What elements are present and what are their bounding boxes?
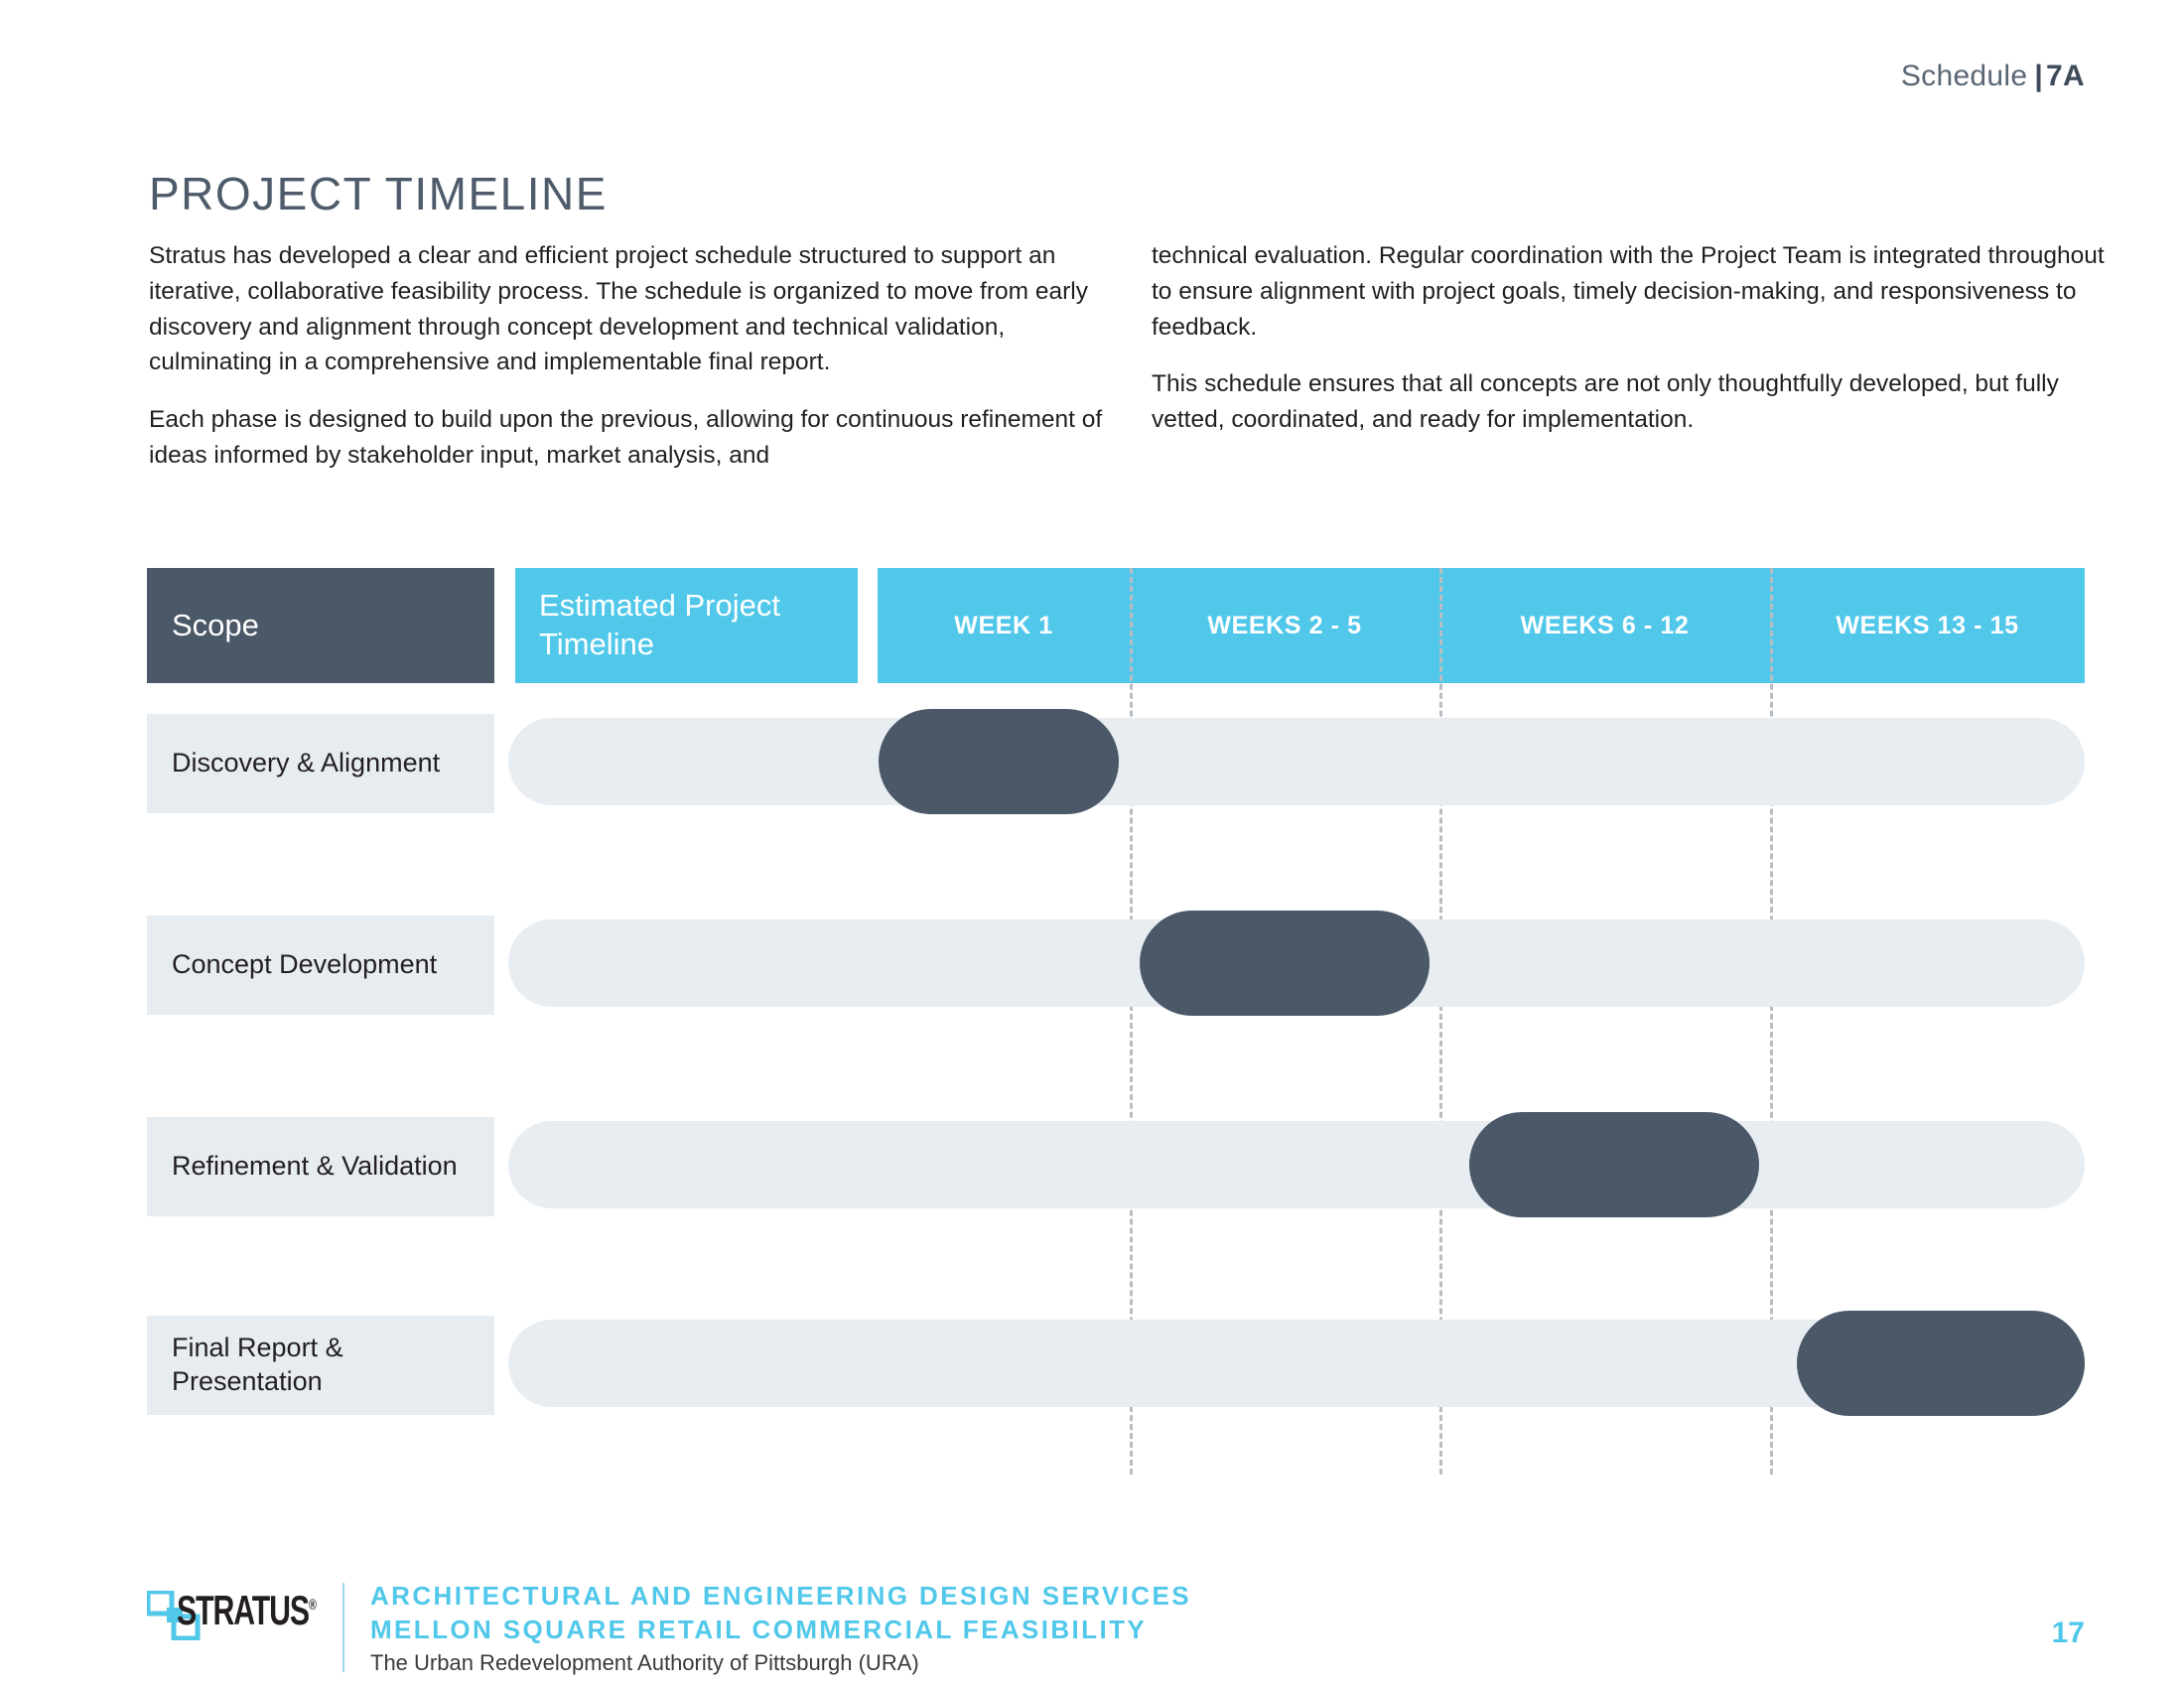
timeline-header-scope: Scope (147, 568, 494, 683)
page-title: PROJECT TIMELINE (149, 167, 608, 220)
header-section-number: 7A (2046, 60, 2085, 92)
timeline-header-week-13-15: WEEKS 13 - 15 (1770, 568, 2085, 683)
timeline-header-week-1: WEEK 1 (878, 568, 1130, 683)
footer-service-line: ARCHITECTURAL AND ENGINEERING DESIGN SER… (370, 1581, 1191, 1612)
timeline-row-label: Refinement & Validation (147, 1117, 494, 1216)
body-paragraph: This schedule ensures that all concepts … (1152, 366, 2105, 438)
timeline-row-label: Discovery & Alignment (147, 714, 494, 813)
timeline-bar-final-report-presentation[interactable] (1797, 1311, 2085, 1416)
page-header: Schedule|7A (1901, 60, 2085, 93)
body-paragraph: Stratus has developed a clear and effici… (149, 238, 1122, 380)
body-paragraph: Each phase is designed to build upon the… (149, 402, 1122, 474)
footer-project-line: MELLON SQUARE RETAIL COMMERCIAL FEASIBIL… (370, 1615, 1147, 1645)
page-number: 17 (2052, 1617, 2085, 1650)
trademark-symbol: ® (309, 1597, 316, 1614)
timeline-row-label: Final Report & Presentation (147, 1316, 494, 1415)
timeline-bar-concept-development[interactable] (1140, 911, 1430, 1016)
timeline-row-label: Concept Development (147, 915, 494, 1015)
timeline-track (508, 1121, 2085, 1208)
header-section-label: Schedule (1901, 60, 2028, 92)
header-separator: | (2034, 60, 2043, 92)
footer-divider (342, 1583, 344, 1672)
timeline-track (508, 718, 2085, 805)
timeline-header-estimated: Estimated Project Timeline (515, 568, 858, 683)
stratus-wordmark: STRATUS® (177, 1587, 316, 1634)
timeline-header-week-2-5: WEEKS 2 - 5 (1130, 568, 1439, 683)
timeline-header-week-6-12: WEEKS 6 - 12 (1439, 568, 1770, 683)
timeline-bar-discovery-alignment[interactable] (879, 709, 1119, 814)
body-paragraph: technical evaluation. Regular coordinati… (1152, 238, 2105, 345)
body-column-right: technical evaluation. Regular coordinati… (1152, 238, 2105, 438)
footer-client-line: The Urban Redevelopment Authority of Pit… (370, 1650, 919, 1676)
body-column-left: Stratus has developed a clear and effici… (149, 238, 1122, 474)
timeline-bar-refinement-validation[interactable] (1469, 1112, 1759, 1217)
